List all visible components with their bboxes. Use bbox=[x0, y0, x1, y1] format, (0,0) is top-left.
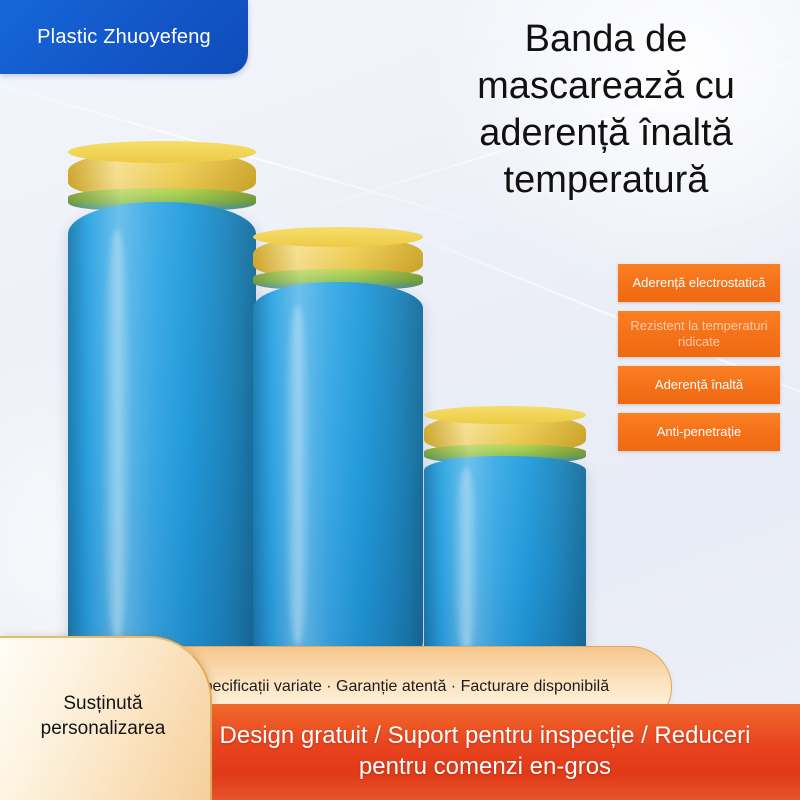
product-poster: Plastic Zhuoyefeng Banda de mascarează c… bbox=[0, 0, 800, 800]
roll-yellow-tape-band bbox=[424, 413, 586, 451]
feature-badge-electrostatic: Aderență electrostatică bbox=[618, 264, 780, 302]
specification-text: Specificații variate · Garanție atentă ·… bbox=[156, 676, 616, 698]
roll-green-band bbox=[424, 444, 586, 462]
roll-green-band bbox=[253, 269, 423, 289]
product-roll-large bbox=[68, 150, 256, 660]
product-roll-small bbox=[424, 413, 586, 660]
roll-green-band bbox=[68, 188, 256, 210]
roll-yellow-tape-band bbox=[253, 235, 423, 277]
bottom-banner: Specificații variate · Garanție atentă ·… bbox=[0, 632, 800, 800]
feature-badge-anti-penetration: Anti-penetrație bbox=[618, 413, 780, 451]
product-roll-medium bbox=[253, 235, 423, 660]
feature-badge-high-adhesion: Aderență înaltă bbox=[618, 366, 780, 404]
customization-text: Susținută personalizarea bbox=[0, 691, 210, 747]
promo-text: Design gratuit / Suport pentru inspecție… bbox=[185, 721, 785, 782]
feature-badge-list: Aderență electrostatică Rezistent la tem… bbox=[618, 264, 780, 451]
roll-yellow-tape-band bbox=[68, 150, 256, 196]
customization-panel: Susținută personalizarea bbox=[0, 636, 212, 800]
roll-blue-film-body bbox=[68, 202, 256, 660]
feature-badge-heat-resistant: Rezistent la temperaturi ridicate bbox=[618, 311, 780, 357]
roll-blue-film-body bbox=[253, 282, 423, 660]
brand-name: Plastic Zhuoyefeng bbox=[37, 26, 211, 49]
roll-blue-film-body bbox=[424, 456, 586, 660]
roll-top-cap bbox=[424, 406, 586, 424]
roll-top-cap bbox=[68, 141, 256, 163]
brand-badge: Plastic Zhuoyefeng bbox=[0, 0, 248, 74]
roll-top-cap bbox=[253, 227, 423, 247]
page-title: Banda de mascarează cu aderență înaltă t… bbox=[420, 16, 792, 204]
